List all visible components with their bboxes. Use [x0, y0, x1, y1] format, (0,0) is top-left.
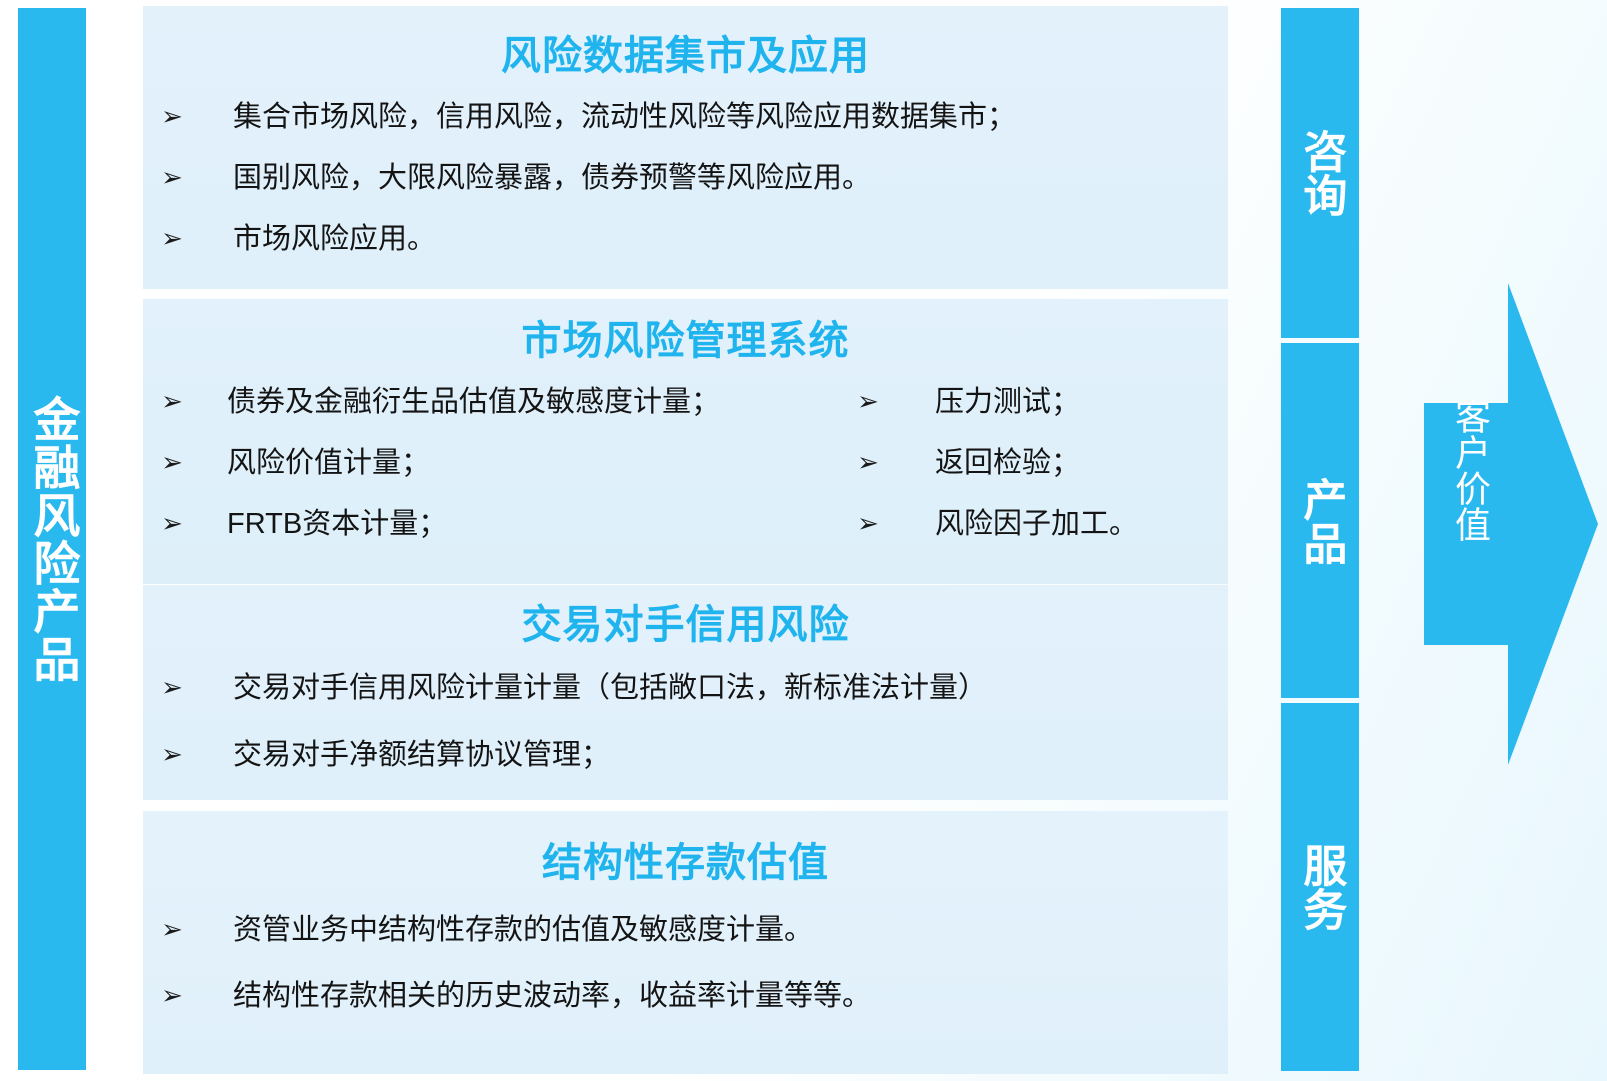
arrow-bullet-icon: ➢ [155, 913, 189, 947]
left-category-bar-label: 金融风险产品 [26, 395, 79, 683]
list-item-text: 集合市场风险，信用风险，流动性风险等风险应用数据集市； [189, 100, 1228, 134]
list-item: ➢ 返回检验； [843, 446, 1228, 480]
bullet-list: ➢ 交易对手信用风险计量计量（包括敞口法，新标准法计量） ➢ 交易对手净额结算协… [143, 671, 1228, 772]
right-bar-segment-label: 咨询 [1297, 129, 1344, 217]
panel-structured-deposit-valuation: 结构性存款估值 ➢ 资管业务中结构性存款的估值及敏感度计量。 ➢ 结构性存款相关… [143, 811, 1228, 1074]
list-item-text: 风险价值计量； [189, 446, 843, 480]
left-category-bar: 金融风险产品 [18, 8, 86, 1070]
list-item: ➢ 压力测试； [843, 385, 1228, 419]
bullet-columns: ➢ 债券及金融衍生品估值及敏感度计量； ➢ 风险价值计量； ➢ FRTB资本计量… [143, 385, 1228, 568]
right-bar-segment-label: 产品 [1297, 477, 1344, 565]
bullet-list-right: ➢ 压力测试； ➢ 返回检验； ➢ 风险因子加工。 [843, 385, 1228, 568]
panel-risk-data-mart: 风险数据集市及应用 ➢ 集合市场风险，信用风险，流动性风险等风险应用数据集市； … [143, 6, 1228, 289]
list-item-text: FRTB资本计量； [189, 507, 843, 541]
list-item-text: 交易对手信用风险计量计量（包括敞口法，新标准法计量） [189, 671, 1228, 705]
arrow-bullet-icon: ➢ [155, 979, 189, 1013]
slide-canvas: 金融风险产品 风险数据集市及应用 ➢ 集合市场风险，信用风险，流动性风险等风险应… [0, 0, 1607, 1081]
arrow-bullet-icon: ➢ [155, 161, 189, 195]
list-item: ➢ 资管业务中结构性存款的估值及敏感度计量。 [155, 913, 1228, 947]
arrow-bullet-icon: ➢ [843, 507, 893, 541]
arrow-bullet-icon: ➢ [155, 100, 189, 134]
arrow-bullet-icon: ➢ [843, 385, 893, 419]
panel-title: 风险数据集市及应用 [143, 36, 1228, 76]
list-item: ➢ 交易对手净额结算协议管理； [155, 738, 1228, 772]
list-item-text: 国别风险，大限风险暴露，债券预警等风险应用。 [189, 161, 1228, 195]
right-arrow-icon [1378, 278, 1607, 770]
right-offering-bar: 咨询 产品 服务 [1281, 8, 1359, 1071]
list-item: ➢ 集合市场风险，信用风险，流动性风险等风险应用数据集市； [155, 100, 1228, 134]
list-item: ➢ 市场风险应用。 [155, 222, 1228, 256]
right-bar-segment-service: 服务 [1281, 703, 1359, 1071]
panel-stack: 风险数据集市及应用 ➢ 集合市场风险，信用风险，流动性风险等风险应用数据集市； … [143, 6, 1228, 1074]
list-item-text: 压力测试； [893, 385, 1228, 419]
list-item-text: 风险因子加工。 [893, 507, 1228, 541]
list-item: ➢ 债券及金融衍生品估值及敏感度计量； [155, 385, 843, 419]
panel-counterparty-credit-risk: 交易对手信用风险 ➢ 交易对手信用风险计量计量（包括敞口法，新标准法计量） ➢ … [143, 585, 1228, 800]
panel-market-risk-system: 市场风险管理系统 ➢ 债券及金融衍生品估值及敏感度计量； ➢ 风险价值计量； ➢… [143, 299, 1228, 584]
customer-value-arrow: 客户价值 [1378, 278, 1607, 770]
list-item: ➢ 风险因子加工。 [843, 507, 1228, 541]
bullet-list: ➢ 资管业务中结构性存款的估值及敏感度计量。 ➢ 结构性存款相关的历史波动率，收… [143, 913, 1228, 1013]
list-item-text: 市场风险应用。 [189, 222, 1228, 256]
panel-title: 市场风险管理系统 [143, 321, 1228, 361]
arrow-bullet-icon: ➢ [155, 446, 189, 480]
list-item-text: 债券及金融衍生品估值及敏感度计量； [189, 385, 843, 419]
arrow-bullet-icon: ➢ [155, 222, 189, 256]
list-item: ➢ 风险价值计量； [155, 446, 843, 480]
list-item: ➢ 结构性存款相关的历史波动率，收益率计量等等。 [155, 979, 1228, 1013]
list-item: ➢ FRTB资本计量； [155, 507, 843, 541]
right-bar-segment-product: 产品 [1281, 343, 1359, 698]
arrow-bullet-icon: ➢ [843, 446, 893, 480]
customer-value-arrow-label: 客户价值 [1430, 398, 1490, 542]
arrow-bullet-icon: ➢ [155, 738, 189, 772]
bullet-list-left: ➢ 债券及金融衍生品估值及敏感度计量； ➢ 风险价值计量； ➢ FRTB资本计量… [143, 385, 843, 568]
right-bar-segment-consulting: 咨询 [1281, 8, 1359, 338]
arrow-bullet-icon: ➢ [155, 385, 189, 419]
list-item: ➢ 国别风险，大限风险暴露，债券预警等风险应用。 [155, 161, 1228, 195]
list-item: ➢ 交易对手信用风险计量计量（包括敞口法，新标准法计量） [155, 671, 1228, 705]
right-bar-segment-label: 服务 [1297, 843, 1344, 931]
list-item-text: 资管业务中结构性存款的估值及敏感度计量。 [189, 913, 1228, 947]
arrow-bullet-icon: ➢ [155, 507, 189, 541]
arrow-bullet-icon: ➢ [155, 671, 189, 705]
bullet-list: ➢ 集合市场风险，信用风险，流动性风险等风险应用数据集市； ➢ 国别风险，大限风… [143, 100, 1228, 256]
panel-title: 交易对手信用风险 [143, 605, 1228, 645]
panel-title: 结构性存款估值 [143, 843, 1228, 883]
list-item-text: 结构性存款相关的历史波动率，收益率计量等等。 [189, 979, 1228, 1013]
list-item-text: 交易对手净额结算协议管理； [189, 738, 1228, 772]
list-item-text: 返回检验； [893, 446, 1228, 480]
